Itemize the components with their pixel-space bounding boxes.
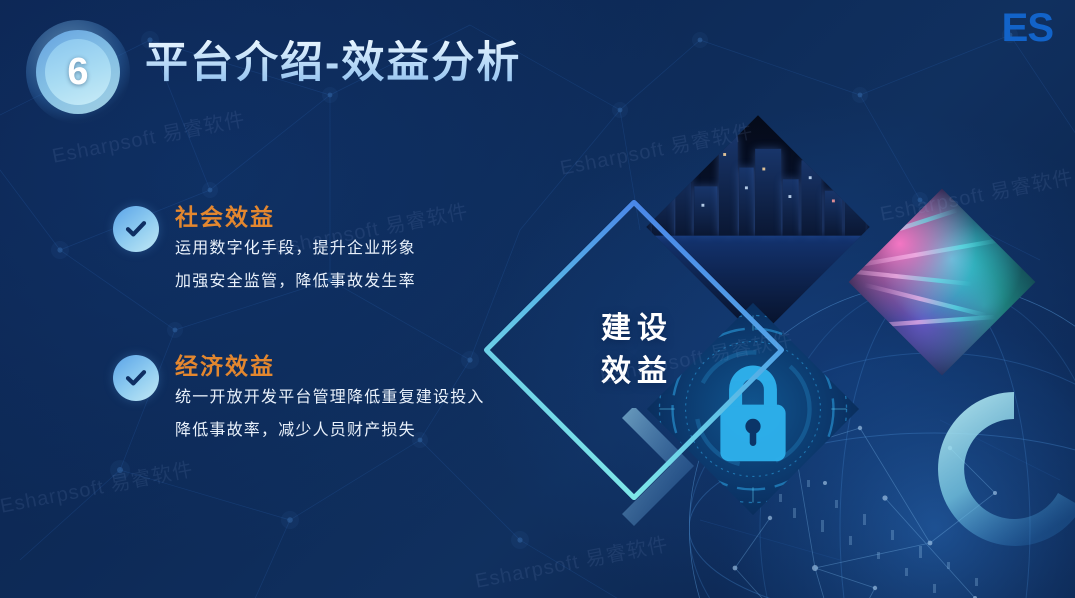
presentation-slide: 建设 效益 6 平台介绍-效益分析 ES 社会效益 运用数字化手段，提升企业形象… xyxy=(0,0,1075,598)
accent-arc-graphic xyxy=(919,374,1075,564)
benefit-line: 加强安全监管，降低事故发生率 xyxy=(175,265,416,298)
check-circle-icon xyxy=(113,355,159,401)
benefit-line: 统一开放开发平台管理降低重复建设投入 xyxy=(175,381,485,414)
check-mark-icon xyxy=(123,216,149,242)
es-logo: ES xyxy=(1002,8,1053,48)
page-title: 平台介绍-效益分析 xyxy=(145,40,521,87)
watermark: Esharpsoft 易睿软件 xyxy=(472,528,670,594)
benefit-heading: 社会效益 xyxy=(175,198,275,232)
slide-number-badge: 6 xyxy=(26,20,130,124)
benefit-line: 降低事故率，减少人员财产损失 xyxy=(175,414,485,447)
slide-number: 6 xyxy=(67,53,88,91)
diamond-label-line1: 建设 xyxy=(595,307,673,351)
check-circle-icon xyxy=(113,206,159,252)
watermark: Esharpsoft 易睿软件 xyxy=(0,453,195,519)
check-mark-icon xyxy=(123,365,149,391)
watermark: Esharpsoft 易睿软件 xyxy=(877,161,1075,227)
benefit-lines: 统一开放开发平台管理降低重复建设投入 降低事故率，减少人员财产损失 xyxy=(175,381,485,447)
benefit-heading: 经济效益 xyxy=(175,347,275,381)
